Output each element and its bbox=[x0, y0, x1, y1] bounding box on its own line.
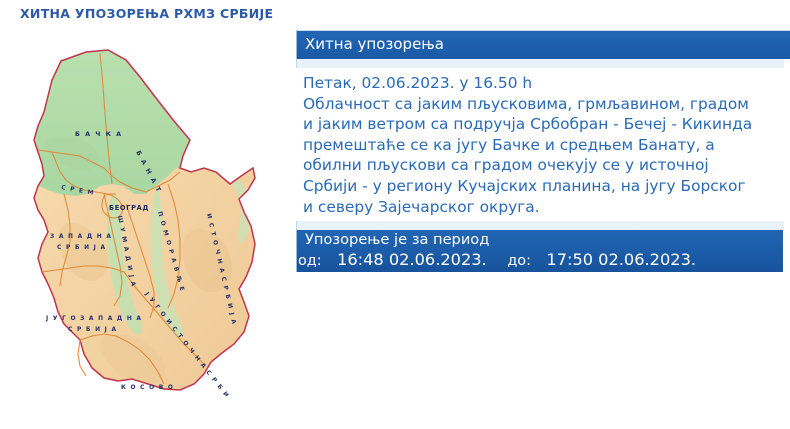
map-label-beograd: БЕОГРАД bbox=[109, 204, 149, 212]
warning-line-3: премештаће се ка југу Бачке и средњем Ба… bbox=[303, 135, 781, 156]
period-from-label: од: bbox=[298, 253, 322, 269]
period-to-value: 17:50 02.06.2023. bbox=[546, 250, 696, 269]
period-to-label: до: bbox=[507, 253, 531, 269]
warning-line-4: обилни пљускови са градом очекују се у и… bbox=[303, 155, 781, 176]
period-from-value: 16:48 02.06.2023. bbox=[337, 250, 487, 269]
page-title: ХИТНА УПОЗОРЕЊА РХМЗ СРБИЈЕ bbox=[20, 6, 273, 21]
warning-period-title: Упозорење је за период bbox=[297, 230, 783, 250]
map-label-zapadna-srbija: З А П А Д Н А bbox=[50, 234, 112, 240]
map-label-jugozapadna-2: С Р Б И Ј А bbox=[68, 327, 117, 333]
map-label-jugozapadna: Ј У Г О З А П А Д Н А bbox=[45, 316, 142, 322]
warning-line-0: Петак, 02.06.2023. у 16.50 h bbox=[303, 73, 781, 94]
warning-line-6: и северу Зајечарског округа. bbox=[303, 197, 781, 218]
map-label-backa: Б А Ч К А bbox=[75, 130, 123, 138]
warning-panel: Хитна упозорења Петак, 02.06.2023. у 16.… bbox=[296, 30, 784, 272]
map-label-zapadna-srbija-2: С Р Б И Ј А bbox=[57, 245, 106, 251]
warning-line-5: Србији - у региону Кучајских планина, на… bbox=[303, 176, 781, 197]
warning-text: Петак, 02.06.2023. у 16.50 h Облачност с… bbox=[296, 68, 785, 217]
serbia-map: Б А Ч К А Б А Н А Т С Р Е М БЕОГРАД З А … bbox=[8, 44, 290, 396]
warning-period-block: Упозорење је за период од: 16:48 02.06.2… bbox=[296, 230, 783, 272]
serbia-map-svg: Б А Ч К А Б А Н А Т С Р Е М БЕОГРАД З А … bbox=[8, 44, 290, 396]
panel-divider-bottom bbox=[296, 221, 784, 230]
panel-divider-top bbox=[296, 59, 784, 68]
panel-header-title: Хитна упозорења bbox=[296, 30, 790, 59]
warning-period-values: од: 16:48 02.06.2023. до: 17:50 02.06.20… bbox=[297, 250, 783, 271]
warning-line-1: Облачност са јаким пљусковима, грмљавино… bbox=[303, 94, 781, 115]
map-label-kosovo: К О С О В О bbox=[121, 385, 174, 391]
warning-line-2: и јаким ветром са подручја Србобран - Бе… bbox=[303, 114, 781, 135]
